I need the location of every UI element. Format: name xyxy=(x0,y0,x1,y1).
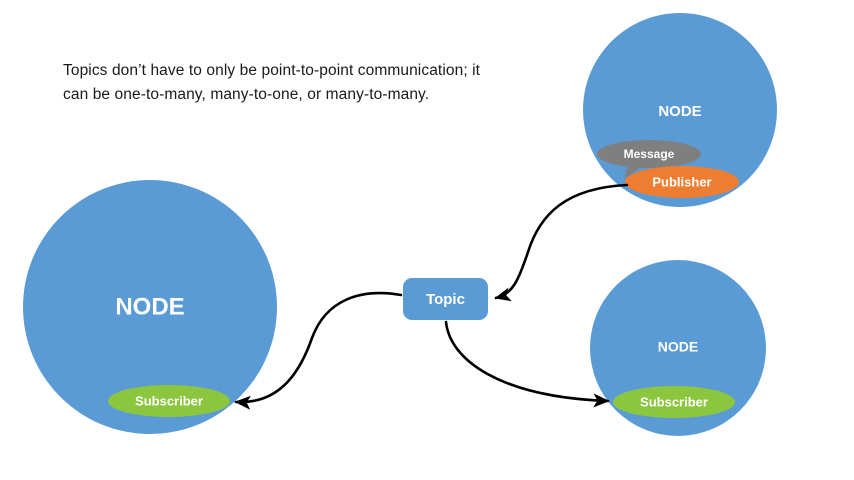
edge-publisher-to-topic xyxy=(496,185,627,298)
diagram-svg: NODE NODE NODE Message Publisher Subscri… xyxy=(0,0,854,480)
subscriber-bottom-right-label: Subscriber xyxy=(640,394,708,409)
subscriber-left-pill[interactable]: Subscriber xyxy=(108,385,230,417)
publisher-pill[interactable]: Publisher xyxy=(625,166,739,198)
node-top-right-label: NODE xyxy=(658,103,701,120)
message-label: Message xyxy=(624,147,675,161)
subscriber-bottom-right-pill[interactable]: Subscriber xyxy=(613,386,735,418)
node-left-label: NODE xyxy=(115,293,184,320)
subscriber-left-label: Subscriber xyxy=(135,393,203,408)
slide-canvas: Topics don’t have to only be point-to-po… xyxy=(0,0,854,480)
node-bottom-right-label: NODE xyxy=(658,339,698,355)
edge-topic-to-subscriber-bottom-right xyxy=(446,322,608,401)
topic-box[interactable]: Topic xyxy=(403,278,488,320)
topic-label: Topic xyxy=(426,291,465,308)
publisher-label: Publisher xyxy=(652,174,711,189)
